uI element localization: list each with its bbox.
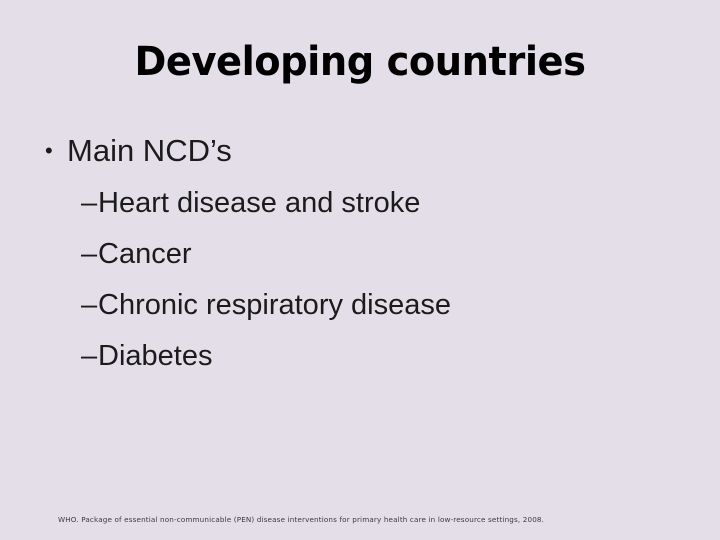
source-citation: WHO. Package of essential non-communicab…	[58, 514, 544, 525]
list-item: – Diabetes	[0, 336, 720, 376]
list-item-label: Cancer	[98, 238, 192, 270]
list-item-level1-label: Main NCD’s	[67, 133, 232, 168]
list-item: – Heart disease and stroke	[0, 183, 720, 223]
list-item-label: Diabetes	[98, 340, 212, 372]
slide-canvas: Developing countries • Main NCD’s – Hear…	[0, 0, 720, 540]
bullet-dot-icon: •	[45, 131, 53, 171]
dash-marker-icon: –	[81, 234, 97, 274]
dash-marker-icon: –	[81, 285, 97, 325]
content-list: • Main NCD’s – Heart disease and stroke …	[0, 131, 720, 376]
list-item-label: Chronic respiratory disease	[98, 289, 451, 321]
list-item-level1: • Main NCD’s	[0, 131, 720, 171]
list-item: – Cancer	[0, 234, 720, 274]
dash-marker-icon: –	[81, 183, 97, 223]
dash-marker-icon: –	[81, 336, 97, 376]
list-item: – Chronic respiratory disease	[0, 285, 720, 325]
page-title: Developing countries	[14, 38, 705, 86]
list-item-label: Heart disease and stroke	[98, 187, 420, 219]
